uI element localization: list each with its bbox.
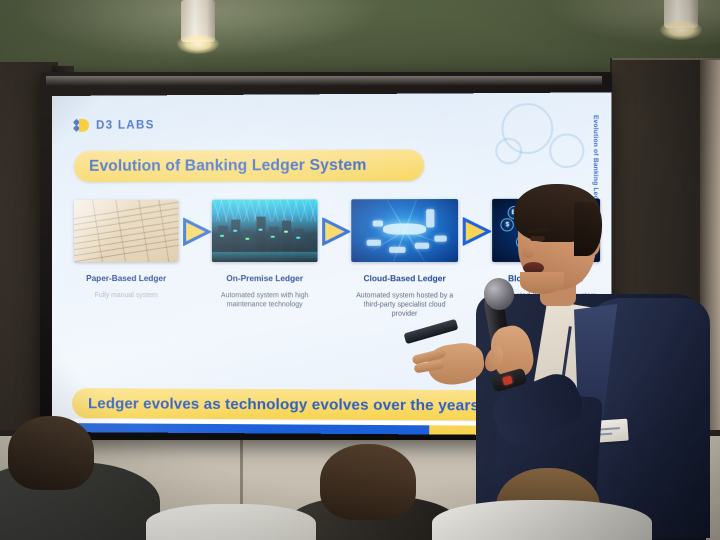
d3-labs-mark-icon	[74, 118, 89, 133]
watermark-circle	[495, 138, 522, 165]
step-cloud-based-ledger: Cloud-Based Ledger Automated system host…	[351, 199, 458, 320]
display-top-glint	[46, 76, 602, 86]
brand-logo: D3 LABS	[74, 117, 155, 132]
presenter-eye	[530, 236, 545, 241]
presenter-nose	[522, 244, 534, 258]
step-description: Automated system hosted by a third-party…	[351, 291, 458, 319]
step-description: Automated system with high maintenance t…	[212, 291, 318, 310]
step-description: Fully manual system	[74, 291, 179, 300]
presentation-photo-scene: D3 LABS Evolution of Banking Ledger Syst…	[0, 0, 720, 540]
watermark-circle	[549, 133, 584, 168]
audience-member	[0, 420, 150, 540]
step-title: On-Premise Ledger	[212, 274, 318, 284]
brand-name: D3 LABS	[96, 119, 155, 131]
step-on-premise-ledger: On-Premise Ledger Automated system with …	[212, 199, 318, 310]
step-title: Paper-Based Ledger	[74, 274, 179, 284]
step-image-cloud-computing	[351, 199, 458, 262]
slide-title-pill: Evolution of Banking Ledger System	[74, 149, 424, 182]
audience-member	[432, 470, 642, 540]
step-paper-based-ledger: Paper-Based Ledger Fully manual system	[74, 200, 179, 301]
audience-member	[146, 476, 306, 540]
slide-title: Evolution of Banking Ledger System	[89, 156, 366, 175]
slide-banner-text: Ledger evolves as technology evolves ove…	[88, 395, 479, 414]
arrow-icon	[322, 217, 351, 245]
ceiling-downlight	[181, 0, 215, 42]
audience-member	[294, 444, 444, 540]
step-image-server-racks	[212, 199, 318, 262]
step-title: Cloud-Based Ledger	[351, 274, 458, 284]
ceiling-downlight	[664, 0, 698, 28]
step-image-paper-ledger	[74, 200, 179, 262]
presenter-chin	[520, 272, 564, 294]
arrow-icon	[183, 218, 211, 246]
